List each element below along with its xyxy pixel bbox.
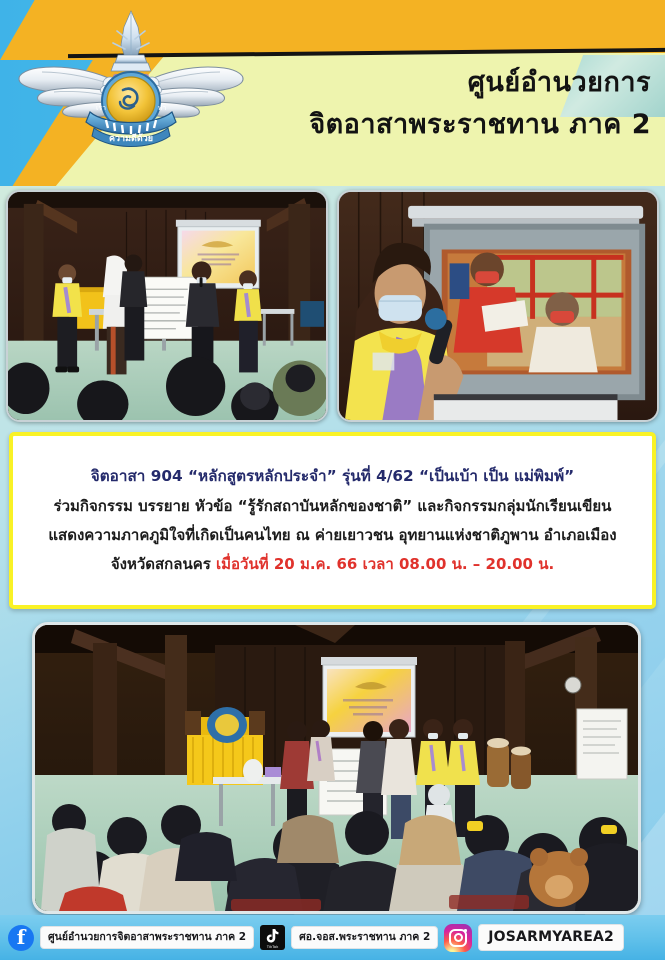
- instagram-account-label[interactable]: JOSARMYAREA2: [478, 924, 624, 950]
- tiktok-icon[interactable]: TikTok: [260, 925, 285, 950]
- body-line-2: ร่วมกิจกรรม บรรยาย หัวข้อ “รู้รักสถาบันห…: [54, 492, 612, 521]
- photo-wide-audience-hall: [32, 622, 641, 914]
- body-line-4-datetime: เมื่อวันที่ 20 ม.ค. 66 เวลา 08.00 น. – 2…: [216, 555, 554, 573]
- instagram-icon[interactable]: [444, 924, 472, 952]
- svg-text:ความดีด้วย: ความดีด้วย: [109, 133, 153, 144]
- body-line-3: แสดงความภาคภูมิใจที่เกิดเป็นคนไทย ณ ค่าย…: [48, 521, 616, 550]
- svg-text:เรา: เรา: [96, 104, 106, 112]
- svg-text:ทำ: ทำ: [158, 104, 167, 112]
- instagram-icon-dot: [464, 929, 467, 932]
- photo-group-activity-flipchart: [6, 190, 328, 422]
- page-title: ศูนย์อำนวยการ จิตอาสาพระราชทาน ภาค 2: [231, 62, 651, 146]
- photo-speaker-with-microphone: [337, 190, 659, 422]
- social-footer-bar: ศูนย์อำนวยการจิตอาสาพระราชทาน ภาค 2 TikT…: [0, 915, 665, 960]
- announcement-text-card: จิตอาสา 904 “หลักสูตรหลักประจำ” รุ่นที่ …: [9, 432, 656, 609]
- tiktok-account-label[interactable]: ศอ.จอส.พระราชทาน ภาค 2: [291, 926, 438, 948]
- tiktok-icon-caption: TikTok: [260, 945, 285, 949]
- body-line-1: จิตอาสา 904 “หลักสูตรหลักประจำ” รุ่นที่ …: [91, 462, 574, 492]
- body-line-4: จังหวัดสกลนคร เมื่อวันที่ 20 ม.ค. 66 เวล…: [111, 550, 554, 579]
- poster-header: ความดีด้วย เรา ทำ ศูนย์อำนวยการ จิตอาสาพ…: [0, 0, 665, 186]
- header-title-line-2: จิตอาสาพระราชทาน ภาค 2: [231, 104, 651, 146]
- poster-root: ความดีด้วย เรา ทำ ศูนย์อำนวยการ จิตอาสาพ…: [0, 0, 665, 960]
- photo-row-top: [0, 190, 665, 422]
- instagram-icon-lens: [454, 933, 463, 942]
- facebook-icon[interactable]: [8, 925, 34, 951]
- royal-volunteer-winged-emblem-icon: ความดีด้วย เรา ทำ: [6, 6, 256, 171]
- facebook-page-label[interactable]: ศูนย์อำนวยการจิตอาสาพระราชทาน ภาค 2: [40, 926, 254, 948]
- header-title-line-1: ศูนย์อำนวยการ: [231, 62, 651, 104]
- body-line-4-place: จังหวัดสกลนคร: [111, 555, 211, 573]
